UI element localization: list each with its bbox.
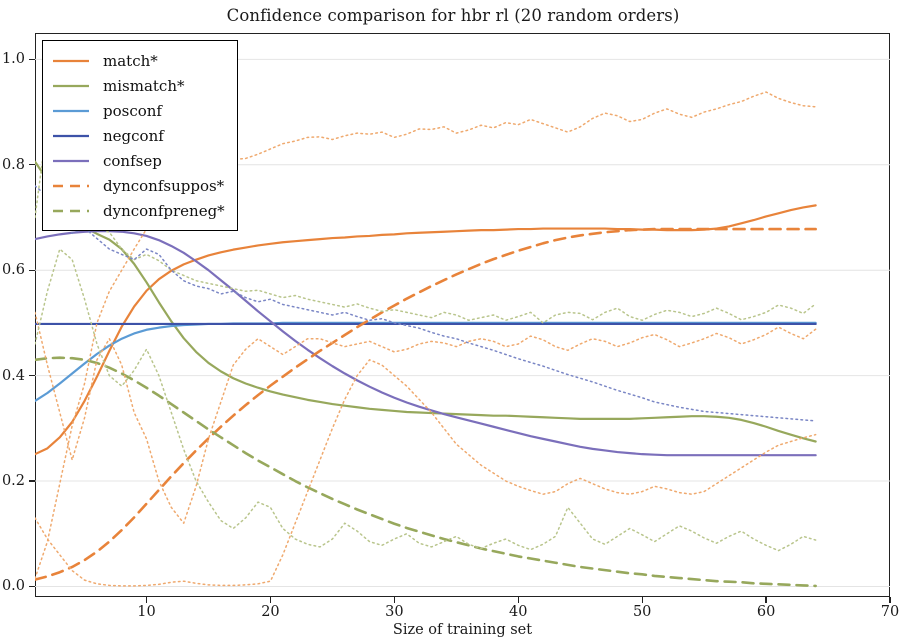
legend-label: mismatch* [103, 77, 184, 95]
x-tick-label: 60 [757, 604, 775, 620]
legend-swatch-icon [52, 154, 90, 168]
series-line [35, 229, 816, 580]
x-tick-label: 20 [261, 604, 279, 620]
legend-swatch-icon [52, 204, 90, 218]
x-tick-label: 30 [385, 604, 403, 620]
legend-label: dynconfsuppos* [103, 177, 224, 195]
x-tick-label: 40 [509, 604, 527, 620]
legend-item[interactable]: posconf [52, 98, 225, 123]
y-tick-mark [29, 164, 35, 165]
x-tick-mark [765, 597, 766, 603]
y-tick-mark [29, 270, 35, 271]
y-tick-mark [29, 480, 35, 481]
legend-label: match* [103, 52, 158, 70]
legend-item[interactable]: mismatch* [52, 73, 225, 98]
x-tick-mark [642, 597, 643, 603]
y-tick-label: 0.4 [2, 368, 25, 384]
legend-label: confsep [103, 152, 162, 170]
legend-swatch-icon [52, 104, 90, 118]
legend-item[interactable]: negconf [52, 123, 225, 148]
legend-swatch-icon [52, 129, 90, 143]
series-line [35, 360, 816, 586]
series-line [35, 249, 816, 551]
y-tick-label: 0.2 [2, 473, 25, 489]
x-tick-label: 50 [633, 604, 651, 620]
legend-label: negconf [103, 127, 164, 145]
x-tick-mark [146, 597, 147, 603]
x-axis-label: Size of training set [35, 622, 890, 638]
x-tick-mark [394, 597, 395, 603]
y-tick-label: 0.0 [2, 578, 25, 594]
series-line [35, 312, 816, 523]
x-tick-mark [270, 597, 271, 603]
series-line [35, 358, 816, 586]
legend-label: posconf [103, 102, 162, 120]
series-line [35, 231, 816, 455]
y-tick-mark [29, 59, 35, 60]
legend-item[interactable]: match* [52, 48, 225, 73]
legend-swatch-icon [52, 179, 90, 193]
y-tick-label: 0.8 [2, 157, 25, 173]
y-tick-mark [29, 375, 35, 376]
x-tick-label: 10 [137, 604, 155, 620]
chart-legend: match*mismatch*posconfnegconfconfsepdync… [42, 40, 238, 231]
legend-item[interactable]: dynconfpreneg* [52, 198, 225, 223]
y-tick-mark [29, 586, 35, 587]
legend-item[interactable]: dynconfsuppos* [52, 173, 225, 198]
legend-swatch-icon [52, 79, 90, 93]
page-title: Confidence comparison for hbr rl (20 ran… [0, 6, 906, 25]
x-tick-mark [889, 597, 890, 603]
x-tick-mark [518, 597, 519, 603]
chart-figure: Confidence comparison for hbr rl (20 ran… [0, 0, 906, 644]
x-tick-label: 70 [881, 604, 899, 620]
legend-item[interactable]: confsep [52, 148, 225, 173]
legend-swatch-icon [52, 54, 90, 68]
y-tick-label: 1.0 [2, 51, 25, 67]
y-tick-label: 0.6 [2, 262, 25, 278]
legend-label: dynconfpreneg* [103, 202, 225, 220]
